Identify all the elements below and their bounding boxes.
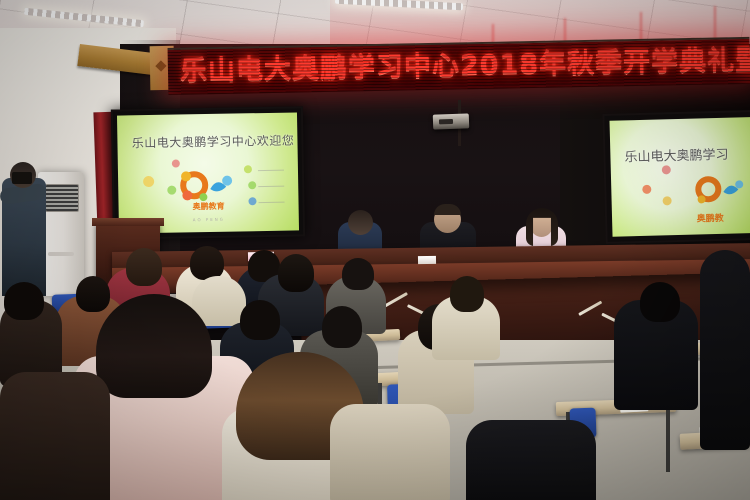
attendee-body-foreground [330, 404, 450, 500]
attendee-hair [4, 282, 44, 320]
aopeng-brand-text: 奥鹏教育 [192, 201, 224, 213]
attendee-hair [342, 258, 374, 290]
attendee-body-foreground [466, 420, 596, 500]
podium-top [92, 218, 164, 226]
attendee-hair [76, 276, 110, 312]
right-screen-surface: 乐山电大奥鹏学习 奥鹏教 [610, 117, 750, 237]
attendee-hair [322, 306, 362, 348]
aopeng-brand-sub: AO PENG [193, 216, 225, 222]
right-projection-screen: 乐山电大奥鹏学习 奥鹏教 [602, 110, 750, 244]
camera-icon [12, 172, 32, 184]
left-screen-surface: 乐山电大奥鹏学习中心欢迎您 奥鹏教育 AO PENG [117, 112, 299, 233]
slide-rule-line [259, 186, 284, 187]
air-conditioner-panel-seam [48, 252, 74, 256]
air-conditioner-vent [45, 184, 79, 212]
desk-leg [666, 406, 670, 472]
panelist-center-hair [434, 204, 461, 215]
left-slide-title: 乐山电大奥鹏学习中心欢迎您 [132, 132, 283, 152]
aopeng-logo-icon [693, 173, 748, 208]
lecture-hall-photo: 乐山电大奥鹏学习中心2018年秋季开学典礼暨学务培训 乐山电大奥鹏学习中心欢迎您 [0, 0, 750, 500]
slide-dot-icon [248, 182, 256, 190]
ceiling-projector [433, 113, 470, 129]
slide-dot-icon [662, 196, 671, 205]
slide-dot-icon [143, 176, 154, 187]
aopeng-brand-text: 奥鹏教 [696, 211, 723, 225]
attendee-body-foreground [0, 372, 110, 500]
slide-dot-icon [248, 197, 256, 205]
slide-dot-icon [642, 185, 651, 194]
right-slide-title: 乐山电大奥鹏学习 [624, 142, 750, 165]
attendee-hair [240, 300, 280, 340]
attendee-hair [640, 282, 680, 322]
slide-dot-icon [661, 166, 670, 175]
attendee-hair [278, 254, 314, 292]
slide-rule-line [259, 201, 284, 202]
slide-dot-icon [172, 159, 180, 167]
led-banner-text: 乐山电大奥鹏学习中心2018年秋季开学典礼暨学务培训 [180, 40, 750, 89]
slide-dot-icon [167, 185, 176, 194]
attendee-hair-foreground [96, 294, 212, 398]
slide-dot-icon [244, 165, 252, 173]
nameplate-card [418, 256, 436, 264]
panelist-left-head [348, 210, 373, 235]
attendee-hair [190, 246, 224, 280]
slide-rule-line [258, 169, 283, 170]
attendee-hair [450, 276, 484, 312]
attendee-body [700, 250, 750, 450]
attendee-hair [126, 248, 162, 286]
